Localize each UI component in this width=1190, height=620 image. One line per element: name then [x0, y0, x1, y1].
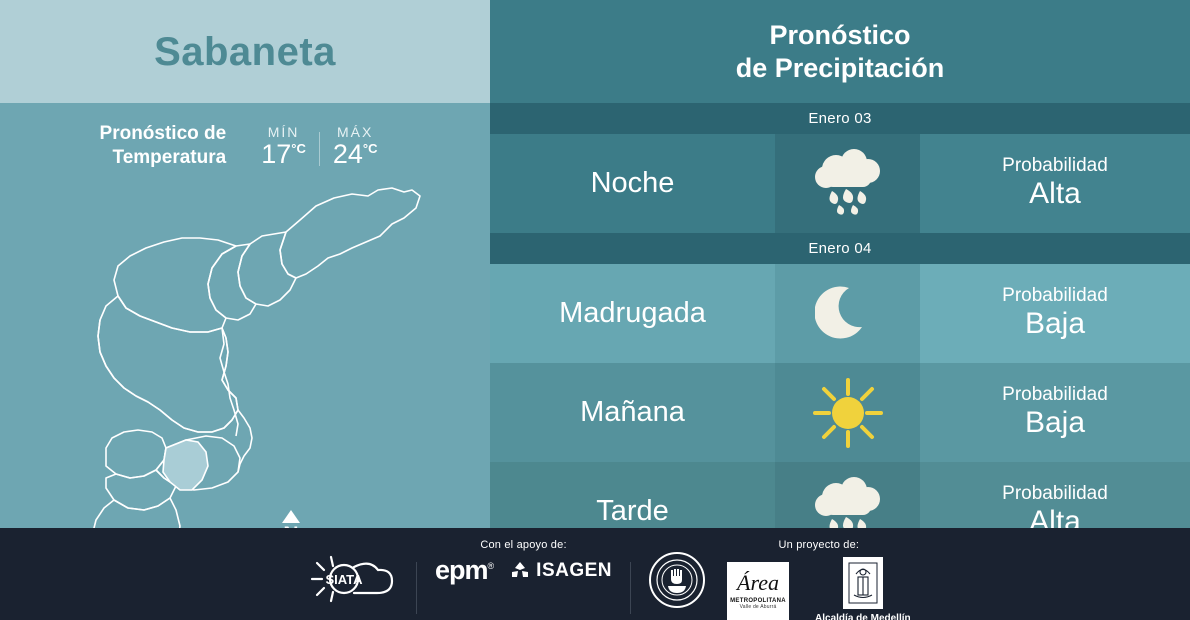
forecast-title: Pronóstico de Precipitación	[490, 0, 1190, 103]
temperature-min-unit: °C	[291, 141, 306, 156]
isagen-logo[interactable]: ISAGEN	[509, 560, 612, 582]
footer: SIATA Con el apoyo de: epm®	[0, 528, 1190, 620]
probability-cell: Probabilidad Baja	[920, 363, 1190, 462]
probability-level: Alta	[1029, 177, 1081, 212]
map-svg	[0, 180, 490, 528]
date-band-second: Enero 04	[490, 233, 1190, 264]
forecast-time-label: Noche	[490, 134, 775, 233]
compass-arrow-icon	[282, 510, 300, 523]
temperature-min-value: 17°C	[261, 139, 306, 169]
forecast-title-line2: de Precipitación	[736, 52, 945, 85]
alcaldia-shield-icon	[843, 557, 883, 609]
forecast-time-label: Madrugada	[490, 264, 775, 363]
temperature-max-value: 24°C	[333, 139, 378, 169]
city-banner: Sabaneta	[0, 0, 490, 103]
rain-cloud-icon	[775, 134, 920, 233]
temperature-min-label: MÍN	[261, 124, 306, 140]
alcaldia-label: Alcaldía de Medellín	[815, 613, 911, 620]
area-logo-sub2: Valle de Aburrá	[740, 604, 777, 610]
date-band-first: Enero 03	[490, 103, 1190, 134]
aburra-valley-map[interactable]: N	[0, 180, 490, 528]
precipitation-forecast-panel: Pronóstico de Precipitación Enero 03 Noc…	[490, 0, 1190, 528]
project-group: Un proyecto de: Área METROPOLITANA Valle…	[727, 528, 911, 620]
support-caption: Con el apoyo de:	[480, 539, 566, 551]
medellin-seal-group[interactable]	[649, 552, 705, 608]
probability-word: Probabilidad	[1002, 285, 1108, 307]
area-metropolitana-logo[interactable]: Área METROPOLITANA Valle de Aburrá	[727, 562, 789, 620]
svg-text:SIATA: SIATA	[325, 572, 363, 587]
probability-cell: Probabilidad Alta	[920, 134, 1190, 233]
moon-icon	[775, 264, 920, 363]
temperature-label: Pronóstico de Temperatura	[100, 122, 227, 170]
probability-level: Baja	[1025, 307, 1085, 342]
isagen-mark-icon	[509, 561, 531, 581]
highlighted-municipality-sabaneta[interactable]	[163, 440, 208, 490]
temperature-max: MÁX 24°C	[320, 124, 391, 168]
footer-divider	[416, 562, 417, 614]
project-caption: Un proyecto de:	[779, 539, 860, 551]
temperature-min: MÍN 17°C	[248, 124, 319, 168]
area-logo-word: Área	[737, 572, 779, 594]
forecast-row[interactable]: Mañana Probabili	[490, 363, 1190, 462]
footer-content: SIATA Con el apoyo de: epm®	[310, 528, 1190, 620]
forecast-row[interactable]: Madrugada Probabilidad Baja	[490, 264, 1190, 363]
epm-logo[interactable]: epm®	[435, 557, 493, 584]
weather-infographic: Sabaneta Pronóstico de Temperatura MÍN 1…	[0, 0, 1190, 620]
alcaldia-logo-group[interactable]: Alcaldía de Medellín	[815, 557, 911, 620]
footer-divider	[630, 562, 631, 614]
probability-cell: Probabilidad Baja	[920, 264, 1190, 363]
forecast-title-line1: Pronóstico	[769, 19, 910, 52]
medellin-seal-icon	[649, 552, 705, 608]
temperature-max-unit: °C	[363, 141, 378, 156]
probability-word: Probabilidad	[1002, 483, 1108, 505]
siata-logo-icon: SIATA	[310, 554, 398, 604]
siata-logo-group[interactable]: SIATA	[310, 554, 398, 604]
sun-icon	[775, 363, 920, 462]
support-logos: epm® ISAGEN	[435, 557, 612, 584]
city-name: Sabaneta	[154, 32, 336, 72]
forecast-row[interactable]: Noche Probabilidad	[490, 134, 1190, 233]
temperature-label-line1: Pronóstico de	[100, 123, 227, 144]
probability-word: Probabilidad	[1002, 155, 1108, 177]
temperature-max-label: MÁX	[333, 124, 378, 140]
temperature-label-line2: Temperatura	[113, 147, 227, 168]
project-logos: Área METROPOLITANA Valle de Aburrá	[727, 557, 911, 620]
probability-level: Baja	[1025, 406, 1085, 441]
temperature-readouts: MÍN 17°C MÁX 24°C	[248, 124, 390, 168]
support-group: Con el apoyo de: epm®	[435, 528, 612, 584]
forecast-time-label: Mañana	[490, 363, 775, 462]
probability-word: Probabilidad	[1002, 384, 1108, 406]
temperature-forecast-block: Pronóstico de Temperatura MÍN 17°C MÁX 2…	[0, 112, 490, 180]
left-panel: Sabaneta Pronóstico de Temperatura MÍN 1…	[0, 0, 490, 528]
